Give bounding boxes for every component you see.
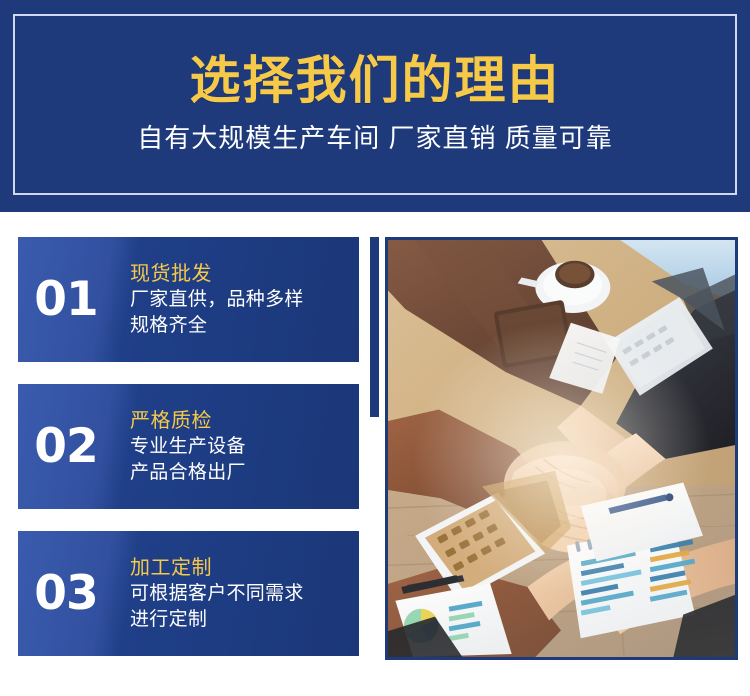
feature-number: 02 (34, 423, 97, 470)
page-title: 选择我们的理由 (189, 55, 560, 106)
feature-desc-line-1: 厂家直供，品种多样 (130, 287, 353, 312)
feature-text-zone: 现货批发 厂家直供，品种多样 规格齐全 (114, 237, 359, 362)
feature-title: 加工定制 (130, 555, 353, 582)
feature-cards-column: 01 现货批发 厂家直供，品种多样 规格齐全 02 严格质检 专业生产设备 产品… (18, 237, 359, 656)
feature-title: 现货批发 (130, 261, 353, 288)
teamwork-photo-illustration (388, 240, 735, 657)
feature-desc-line-2: 产品合格出厂 (130, 460, 353, 485)
feature-number: 03 (34, 570, 97, 617)
promo-banner-page: 选择我们的理由 自有大规模生产车间 厂家直销 质量可靠 01 现货批发 厂家直供… (0, 0, 750, 696)
feature-number-zone: 01 (18, 237, 114, 362)
feature-card-03: 03 加工定制 可根据客户不同需求 进行定制 (18, 531, 359, 656)
feature-desc-line-1: 专业生产设备 (130, 434, 353, 459)
page-subtitle: 自有大规模生产车间 厂家直销 质量可靠 (137, 125, 612, 151)
feature-number-zone: 03 (18, 531, 114, 656)
feature-card-02: 02 严格质检 专业生产设备 产品合格出厂 (18, 384, 359, 509)
feature-text-zone: 严格质检 专业生产设备 产品合格出厂 (114, 384, 359, 509)
header-text-wrap: 选择我们的理由 自有大规模生产车间 厂家直销 质量可靠 (15, 16, 735, 193)
feature-desc-line-1: 可根据客户不同需求 (130, 581, 353, 606)
photo-left-accent-bar (370, 237, 379, 417)
teamwork-photo (388, 240, 735, 657)
teamwork-photo-frame (385, 237, 738, 660)
feature-title: 严格质检 (130, 408, 353, 435)
feature-text-zone: 加工定制 可根据客户不同需求 进行定制 (114, 531, 359, 656)
header-inner-frame: 选择我们的理由 自有大规模生产车间 厂家直销 质量可靠 (13, 14, 737, 195)
feature-number-zone: 02 (18, 384, 114, 509)
feature-desc-line-2: 规格齐全 (130, 313, 353, 338)
feature-card-01: 01 现货批发 厂家直供，品种多样 规格齐全 (18, 237, 359, 362)
feature-desc-line-2: 进行定制 (130, 607, 353, 632)
header-banner: 选择我们的理由 自有大规模生产车间 厂家直销 质量可靠 (0, 0, 750, 212)
feature-number: 01 (34, 276, 97, 323)
